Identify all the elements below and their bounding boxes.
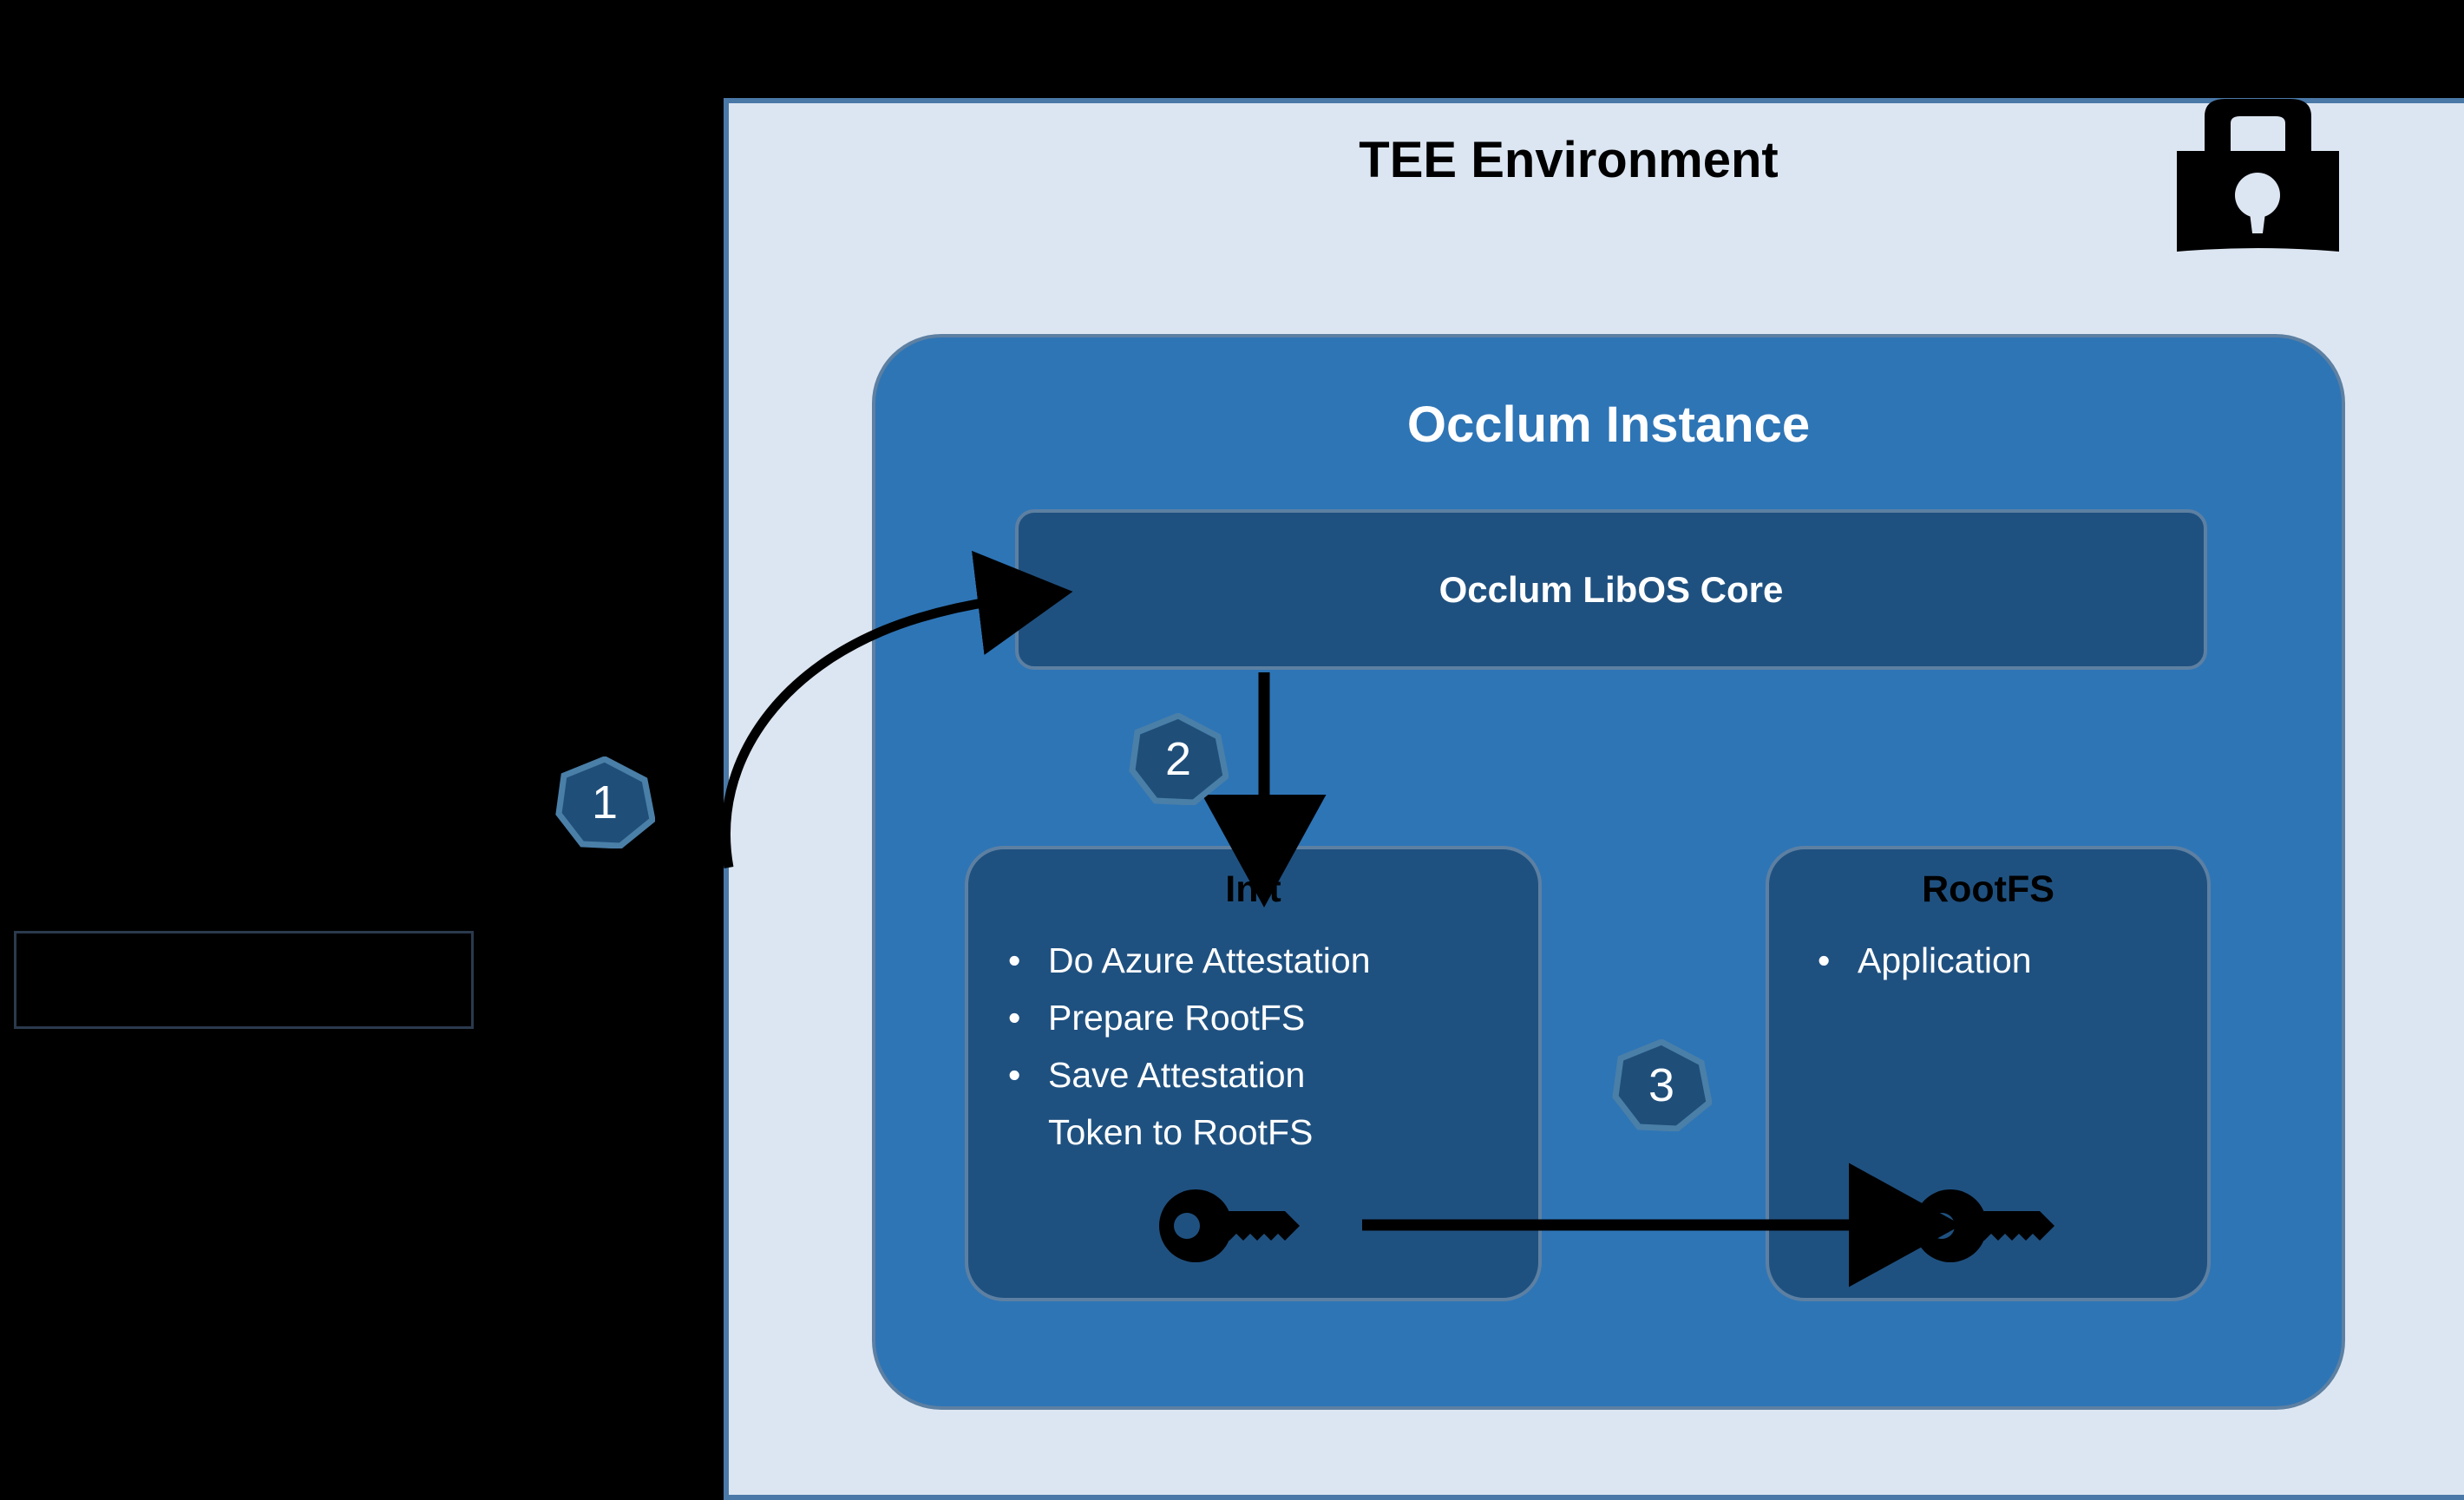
init-title: Init: [968, 868, 1538, 911]
rootfs-bullet-list: Application: [1811, 932, 2195, 989]
rootfs-title: RootFS: [1769, 868, 2207, 911]
list-item: Prepare RootFS: [1001, 989, 1526, 1046]
occlum-libos-core-box: Occlum LibOS Core: [1015, 509, 2207, 670]
step-badge-1-number: 1: [554, 757, 655, 848]
step-badge-3-number: 3: [1611, 1039, 1712, 1131]
step-badge-3: 3: [1611, 1039, 1712, 1131]
key-icon: [1913, 1189, 2069, 1263]
step-badge-2-number: 2: [1128, 713, 1229, 805]
list-item: Application: [1811, 932, 2195, 989]
key-icon: [1158, 1189, 1314, 1263]
step-badge-1: 1: [554, 757, 655, 848]
occlum-libos-core-title: Occlum LibOS Core: [1439, 569, 1784, 611]
list-item: Save Attestation Token to RootFS: [1001, 1046, 1526, 1161]
init-bullet-list: Do Azure Attestation Prepare RootFS Save…: [1001, 932, 1526, 1161]
step-badge-2: 2: [1128, 713, 1229, 805]
left-placeholder-box: [14, 931, 474, 1029]
padlock-icon: [2165, 97, 2351, 253]
tee-environment-title-text: TEE Environment: [1359, 131, 1778, 189]
occlum-instance-title: Occlum Instance: [875, 396, 2342, 454]
list-item: Do Azure Attestation: [1001, 932, 1526, 989]
